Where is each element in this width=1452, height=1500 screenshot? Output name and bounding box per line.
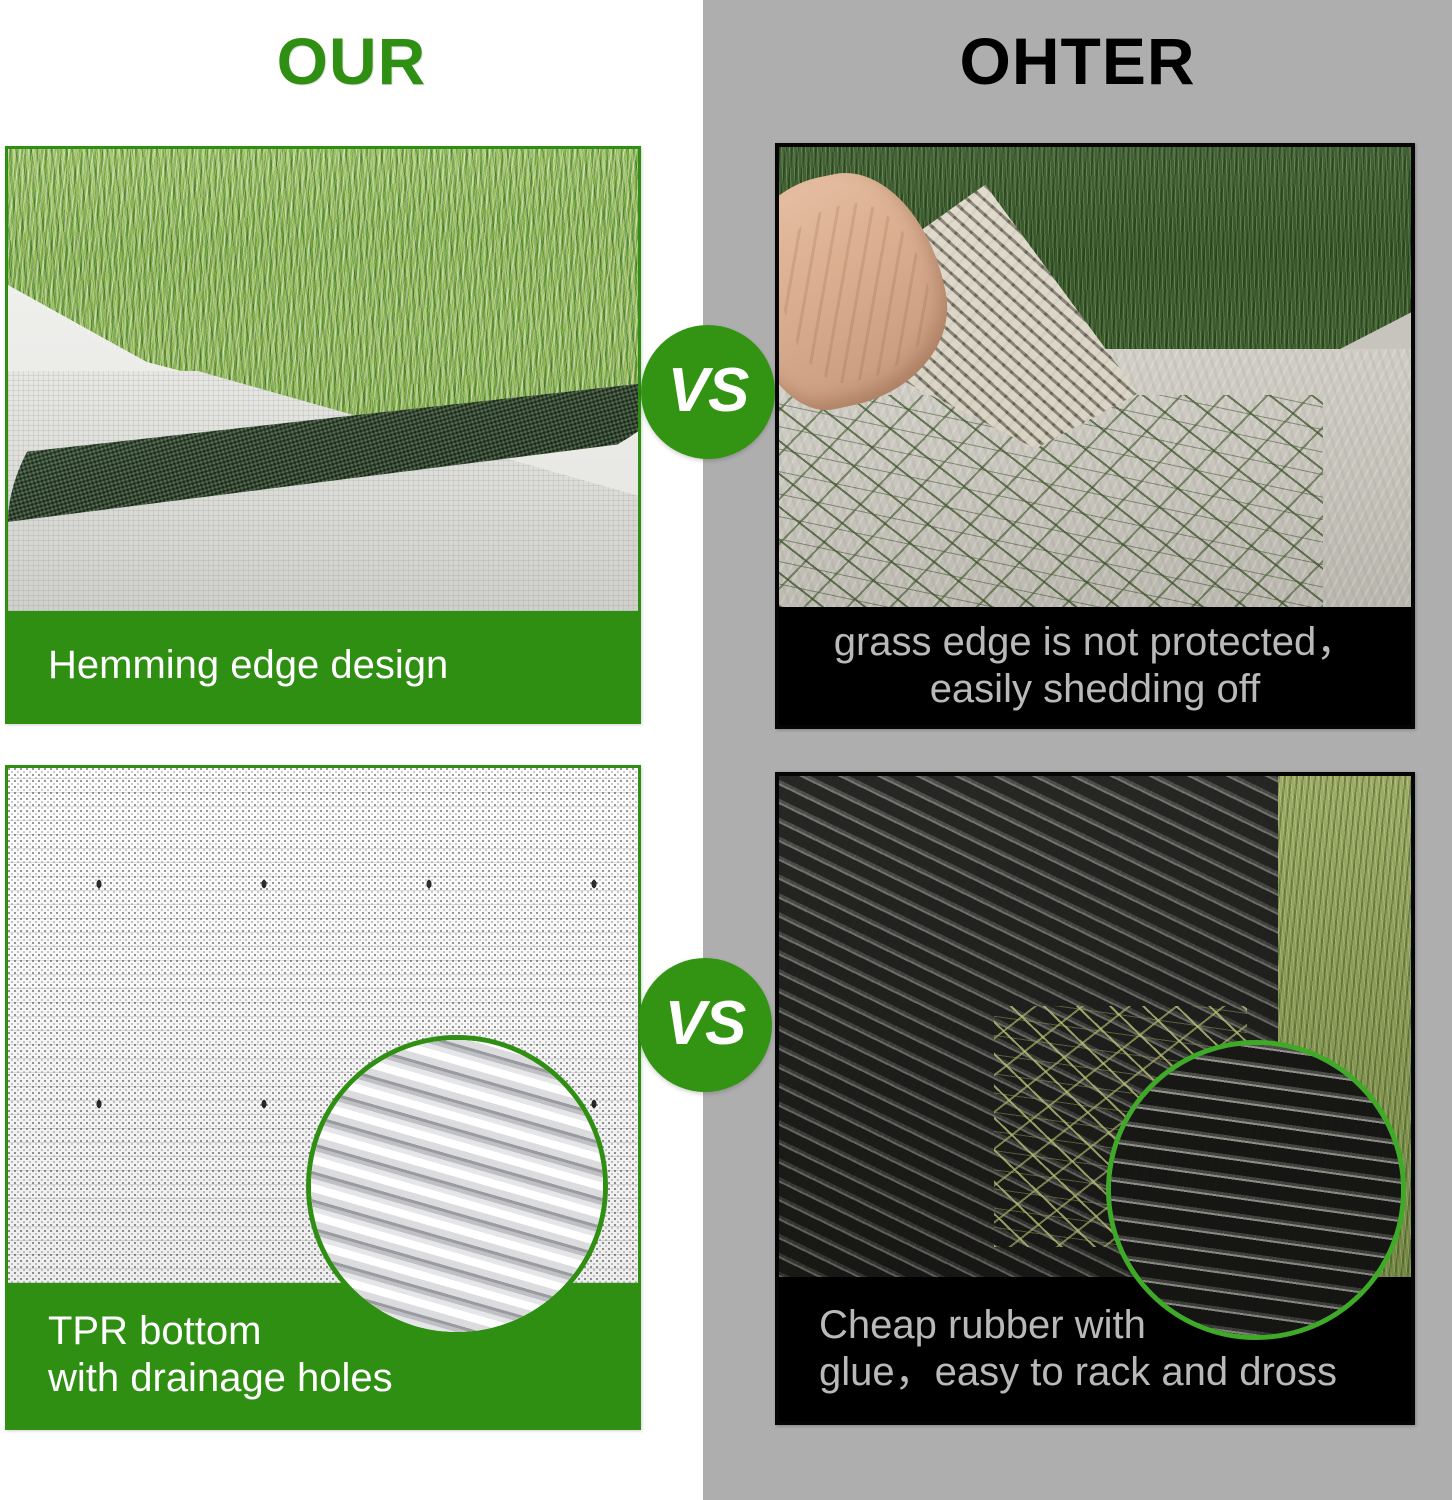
- other-card-grass-edge: grass edge is not protected， easily shed…: [775, 143, 1415, 729]
- vs-badge-top-label: VS: [668, 355, 749, 426]
- our-caption-line2: with drainage holes: [48, 1355, 393, 1402]
- other-caption-line1: grass edge is not protected，: [834, 619, 1357, 666]
- other-caption-line1: Cheap rubber with: [819, 1302, 1146, 1349]
- rubber-glue-closeup: [1111, 1045, 1401, 1335]
- other-photo-shedding-edge: [779, 147, 1411, 607]
- our-card-hemming-edge: Hemming edge design: [5, 146, 641, 724]
- vs-badge-top: VS: [641, 325, 775, 459]
- our-caption-text: Hemming edge design: [48, 642, 448, 689]
- other-caption-line2: easily shedding off: [930, 666, 1261, 713]
- other-caption-grass-edge: grass edge is not protected， easily shed…: [779, 607, 1411, 725]
- our-zoom-inset-tpr-texture: [306, 1035, 608, 1337]
- our-column-heading: OUR: [0, 28, 703, 94]
- our-photo-hemming-edge: [8, 149, 638, 611]
- other-column-heading: OHTER: [703, 28, 1452, 94]
- our-caption-hemming-edge: Hemming edge design: [8, 611, 638, 721]
- other-zoom-inset-rubber-texture: [1106, 1040, 1406, 1340]
- comparison-infographic: OUR OHTER Hemming edge design grass edge…: [0, 0, 1452, 1500]
- our-caption-line1: TPR bottom: [48, 1308, 261, 1355]
- tpr-nub-closeup: [311, 1040, 603, 1332]
- vs-badge-bottom-label: VS: [665, 988, 746, 1059]
- other-caption-line2: glue，easy to rack and dross: [819, 1349, 1337, 1396]
- vs-badge-bottom: VS: [638, 958, 772, 1092]
